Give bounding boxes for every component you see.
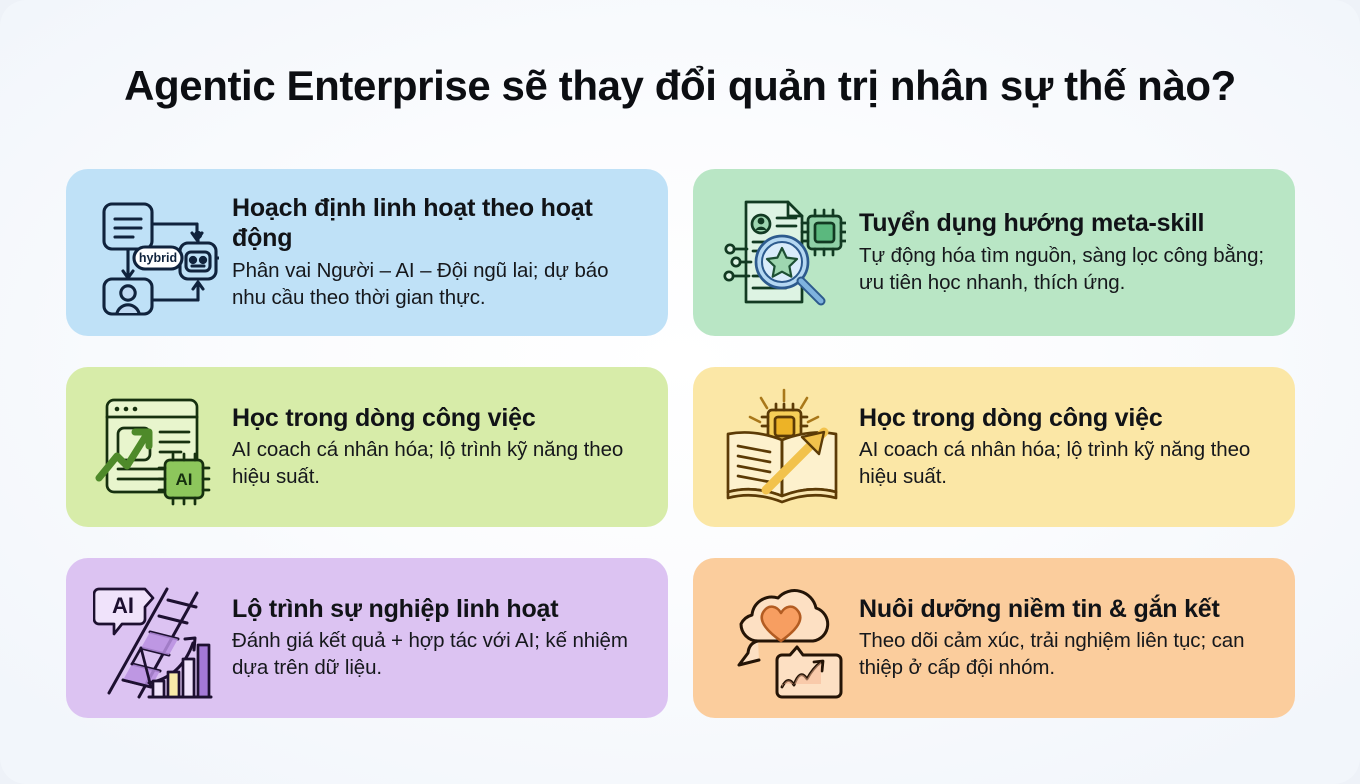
card-text: Học trong dòng công việc AI coach cá nhâ… [222,404,650,491]
card-meta-skill-hiring[interactable]: Tuyển dụng hướng meta-skill Tự động hóa … [693,169,1295,336]
card-learning-in-flow-lime[interactable]: AI Học trong dòng công việc AI coach cá … [66,367,668,527]
ai-bubble-ladder-chart-icon: AI [90,572,222,704]
open-book-chip-arrow-icon [717,381,849,513]
cards-grid: hybrid Hoạch định linh hoạt theo hoạt độ… [66,169,1295,718]
card-description: Tự động hóa tìm nguồn, sàng lọc công bằn… [859,242,1273,296]
card-description: Theo dõi cảm xúc, trải nghiệm liên tục; … [859,627,1273,681]
card-text: Nuôi dưỡng niềm tin & gắn kết Theo dõi c… [849,595,1277,682]
page-title: Agentic Enterprise sẽ thay đổi quản trị … [0,62,1360,109]
thought-cloud-heart-chart-icon [717,572,849,704]
card-learning-in-flow-yellow[interactable]: Học trong dòng công việc AI coach cá nhâ… [693,367,1295,527]
hybrid-workforce-flow-icon: hybrid [90,187,222,319]
card-text: Hoạch định linh hoạt theo hoạt động Phân… [222,194,650,311]
card-description: Đánh giá kết quả + hợp tác với AI; kế nh… [232,627,646,681]
card-title: Học trong dòng công việc [859,404,1273,434]
card-title: Hoạch định linh hoạt theo hoạt động [232,194,646,254]
card-description: Phân vai Người – AI – Đội ngũ lai; dự bá… [232,257,646,311]
card-title: Lộ trình sự nghiệp linh hoạt [232,595,646,625]
card-title: Học trong dòng công việc [232,404,646,434]
infographic-page: Agentic Enterprise sẽ thay đổi quản trị … [0,0,1360,784]
card-text: Học trong dòng công việc AI coach cá nhâ… [849,404,1277,491]
svg-text:hybrid: hybrid [139,251,177,265]
resume-search-chip-icon [717,187,849,319]
card-career-pathways[interactable]: AI [66,558,668,718]
card-trust-engagement[interactable]: Nuôi dưỡng niềm tin & gắn kết Theo dõi c… [693,558,1295,718]
card-text: Lộ trình sự nghiệp linh hoạt Đánh giá kế… [222,595,650,682]
card-title: Tuyển dụng hướng meta-skill [859,209,1273,239]
browser-growth-ai-chip-icon: AI [90,381,222,513]
card-description: AI coach cá nhân hóa; lộ trình kỹ năng t… [859,436,1273,490]
card-workforce-planning[interactable]: hybrid Hoạch định linh hoạt theo hoạt độ… [66,169,668,336]
card-text: Tuyển dụng hướng meta-skill Tự động hóa … [849,209,1277,296]
card-title: Nuôi dưỡng niềm tin & gắn kết [859,595,1273,625]
svg-text:AI: AI [176,470,193,489]
card-description: AI coach cá nhân hóa; lộ trình kỹ năng t… [232,436,646,490]
svg-text:AI: AI [112,593,134,618]
